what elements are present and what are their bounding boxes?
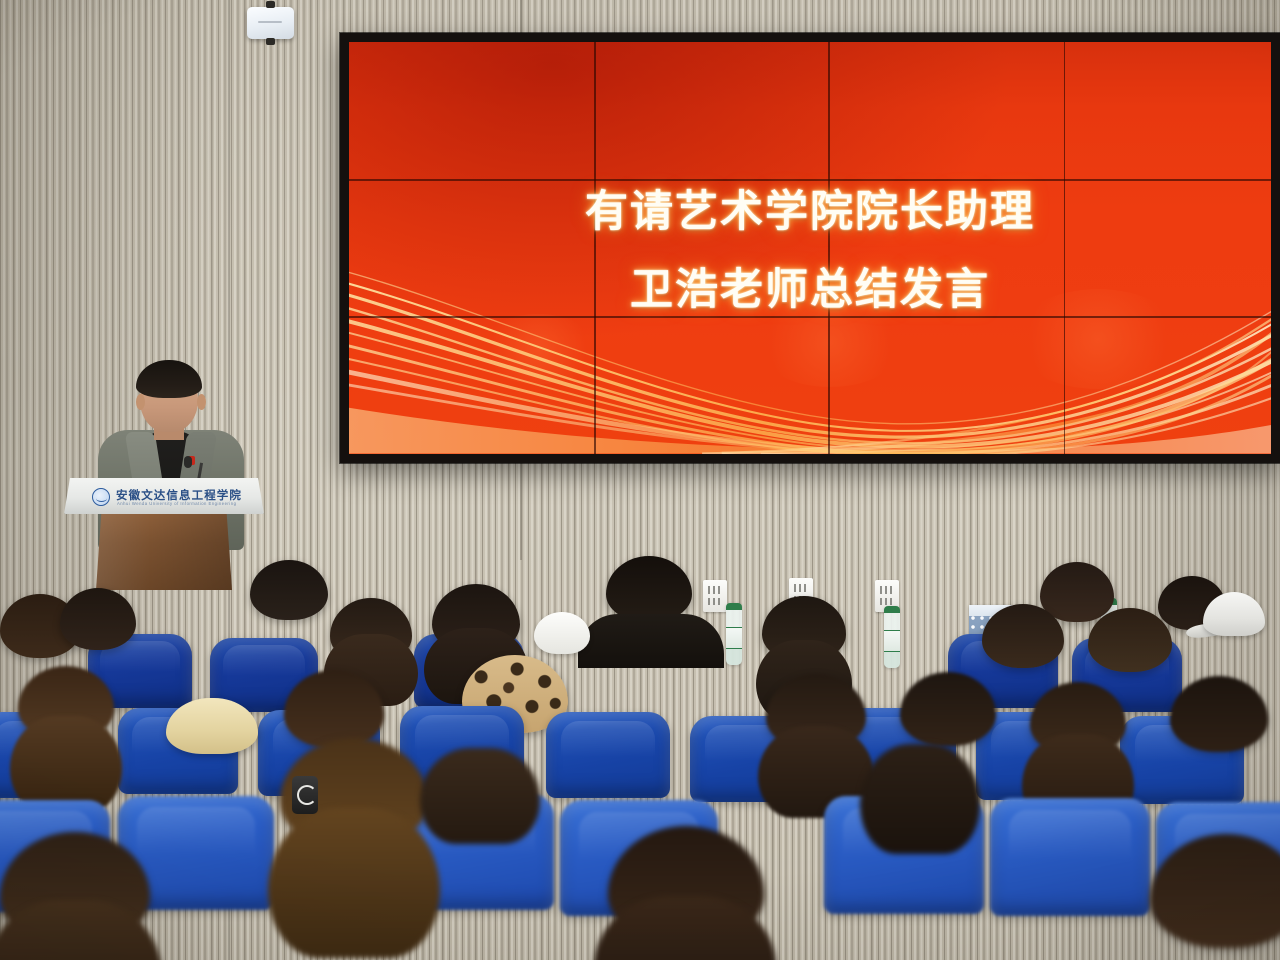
led-video-wall[interactable]: 有请艺术学院院长助理 卫浩老师总结发言: [340, 33, 1280, 463]
panel-seam-horizontal: [349, 179, 1271, 181]
auditorium-scene: 有请艺术学院院长助理 卫浩老师总结发言 安徽文达信息工程学院 Anhui Wen…: [0, 0, 1280, 960]
audience-shoulders: [578, 614, 724, 668]
bracket: [266, 38, 275, 45]
audience-area: [0, 548, 1280, 960]
panel-seam-horizontal: [349, 316, 1271, 318]
audience-hair: [10, 716, 122, 812]
hair-clip: [292, 776, 318, 814]
golden-ribbon-artwork: [349, 264, 1271, 454]
audience-head: [60, 588, 136, 650]
audience-head: [1170, 676, 1268, 752]
audience-hair: [268, 808, 440, 958]
university-crest-icon: [92, 488, 110, 506]
lectern-front-panel: 安徽文达信息工程学院 Anhui Wenda University of Inf…: [64, 478, 264, 514]
audience-head: [250, 560, 328, 620]
ear-right: [197, 394, 206, 410]
wall-speaker-icon: [247, 7, 294, 39]
white-hair-bow: [534, 612, 590, 654]
audience-head: [606, 556, 692, 622]
audience-hair: [420, 748, 540, 844]
audience-hair: [860, 744, 980, 854]
panel-seam-vertical: [828, 42, 830, 454]
audience-head: [1088, 608, 1172, 672]
panel-seam-vertical: [1064, 42, 1066, 454]
panel-seam-vertical: [594, 42, 596, 454]
audience-head: [1040, 562, 1114, 622]
auditorium-seat[interactable]: [546, 712, 670, 798]
slide-line-1: 有请艺术学院院长助理: [585, 177, 1035, 239]
microphone-head-icon: [184, 456, 192, 468]
lectern-org-name-en: Anhui Wenda University of Information En…: [117, 501, 236, 506]
bracket: [266, 1, 275, 8]
presenter-hair: [136, 360, 202, 398]
ear-left: [136, 394, 145, 410]
auditorium-seat[interactable]: [990, 798, 1150, 916]
video-wall-screen: 有请艺术学院院长助理 卫浩老师总结发言: [349, 42, 1271, 454]
